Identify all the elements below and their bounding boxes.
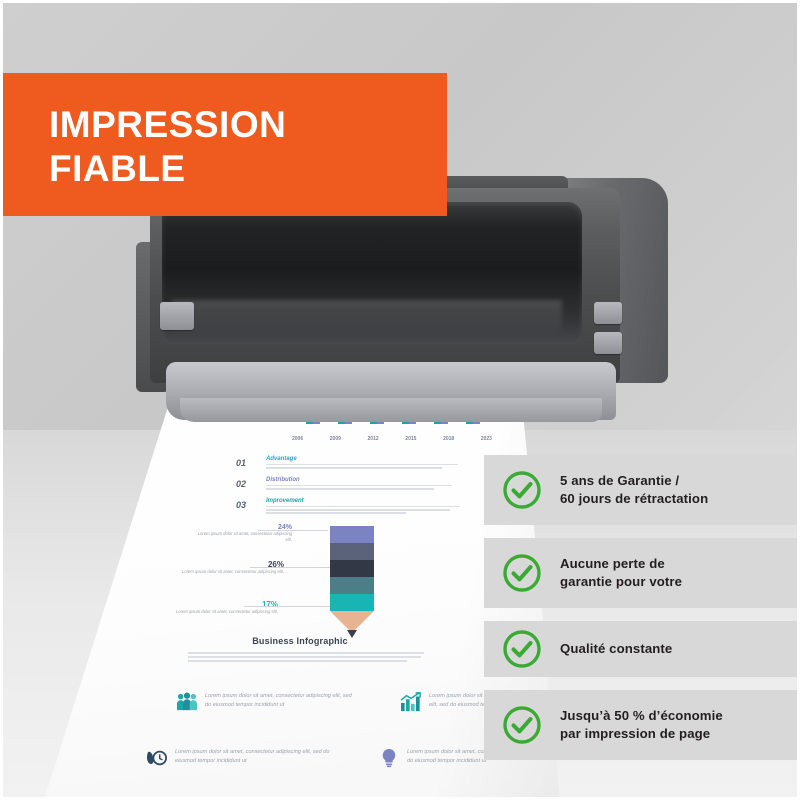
printout-feature-1-text: Lorem ipsum dolor sit amet, consectetur … [205,692,356,709]
printout-feature-3: Lorem ipsum dolor sit amet, consectetur … [146,748,342,768]
feature-card-2-slant [484,538,502,608]
bar-chart-x-axis: 2006 2009 2012 2015 2018 2023 [292,436,492,442]
pencil-tip-lead [347,630,357,638]
feature-card-4-line2: par impression de page [560,726,710,741]
check-circle-icon [502,553,542,593]
x-tick-2015: 2015 [405,436,416,442]
pencil-segment-5 [330,594,374,611]
feature-card-1-text: 5 ans de Garantie / 60 jours de rétracta… [560,472,708,507]
headline-line-1: IMPRESSION [49,104,286,145]
check-circle-icon [502,629,542,669]
feature-card-2-text: Aucune perte de garantie pour votre [560,555,682,590]
feature-card-3: Qualité constante [484,621,797,677]
feature-card-1-line2: 60 jours de rétractation [560,491,708,506]
pencil-segment-1 [330,526,374,543]
list-item: 01 Advantage [236,456,486,477]
list-item-title: Advantage [266,456,297,462]
list-item-number: 03 [236,500,246,510]
business-infographic-title: Business Infographic [252,636,348,646]
feature-card-2: Aucune perte de garantie pour votre [484,538,797,608]
feature-card-3-slant [484,621,502,677]
pencil-callout-3: 17% Lorem ipsum dolor sit amet, consecte… [168,600,278,615]
feature-card-1-line1: 5 ans de Garantie / [560,473,679,488]
list-item: 02 Distribution [236,477,486,498]
pencil-chart [330,526,374,626]
pencil-segment-4 [330,577,374,594]
pencil-callout-1: 24% Lorem ipsum dolor sit amet, consecte… [196,524,292,544]
list-item-title: Distribution [266,477,300,483]
x-tick-2018: 2018 [443,436,454,442]
printout-feature-1: Lorem ipsum dolor sit amet, consectetur … [176,692,356,712]
printer-feed-button[interactable] [594,302,622,324]
promo-banner-image: Banner Infographics 35% 37% Step 01 Step… [0,0,800,800]
feature-card-4-slant [484,690,502,760]
pencil-segment-3 [330,560,374,577]
feature-card-1-slant [484,455,502,525]
feature-card-4-line1: Jusqu’à 50 % d’économie [560,708,723,723]
pencil-connector-3 [244,606,330,607]
headline-banner: IMPRESSION FIABLE [3,73,447,216]
x-tick-2006: 2006 [292,436,303,442]
pencil-callout-3-text: Lorem ipsum dolor sit amet, consectetur … [168,609,278,615]
check-circle-icon [502,705,542,745]
feature-card-1: 5 ans de Garantie / 60 jours de rétracta… [484,455,797,525]
bar-chart-icon [400,692,422,712]
x-tick-2012: 2012 [368,436,379,442]
feature-card-4: Jusqu’à 50 % d’économie par impression d… [484,690,797,760]
x-tick-2009: 2009 [330,436,341,442]
feature-card-3-text: Qualité constante [560,640,672,658]
headline-line-2: FIABLE [49,148,186,189]
feature-card-2-line1: Aucune perte de [560,556,665,571]
check-circle-icon [502,470,542,510]
pencil-connector-2 [250,567,330,568]
lightbulb-icon [378,748,400,768]
pencil-callout-3-value: 17% [168,600,278,609]
pencil-segment-2 [330,543,374,560]
printer-power-button[interactable] [160,302,194,330]
list-item-title: Improvement [266,498,304,504]
list-item-body [266,464,466,470]
printout-feature-3-text: Lorem ipsum dolor sit amet, consectetur … [175,748,342,765]
page-title: IMPRESSION FIABLE [49,103,286,190]
pencil-callout-2-text: Lorem ipsum dolor sit amet, consectetur … [180,569,284,575]
printer-cancel-button[interactable] [594,332,622,354]
pencil-callout-1-text: Lorem ipsum dolor sit amet, consectetur … [196,531,292,544]
business-infographic-body [188,652,426,664]
x-tick-2023: 2023 [481,436,492,442]
numbered-list: 01 Advantage 02 Distribution 03 Improvem… [236,456,486,519]
list-item-body [266,506,466,516]
list-item-number: 02 [236,479,246,489]
feature-card-4-text: Jusqu’à 50 % d’économie par impression d… [560,707,723,742]
list-item-number: 01 [236,458,246,468]
printer-tray-front [180,398,602,422]
list-item-body [266,485,466,491]
people-icon [176,692,198,712]
list-item: 03 Improvement [236,498,486,519]
feature-card-2-line2: garantie pour votre [560,574,682,589]
phone-clock-icon [146,748,168,768]
printer-drum-highlight [172,300,562,336]
pencil-connector-1 [258,530,328,531]
